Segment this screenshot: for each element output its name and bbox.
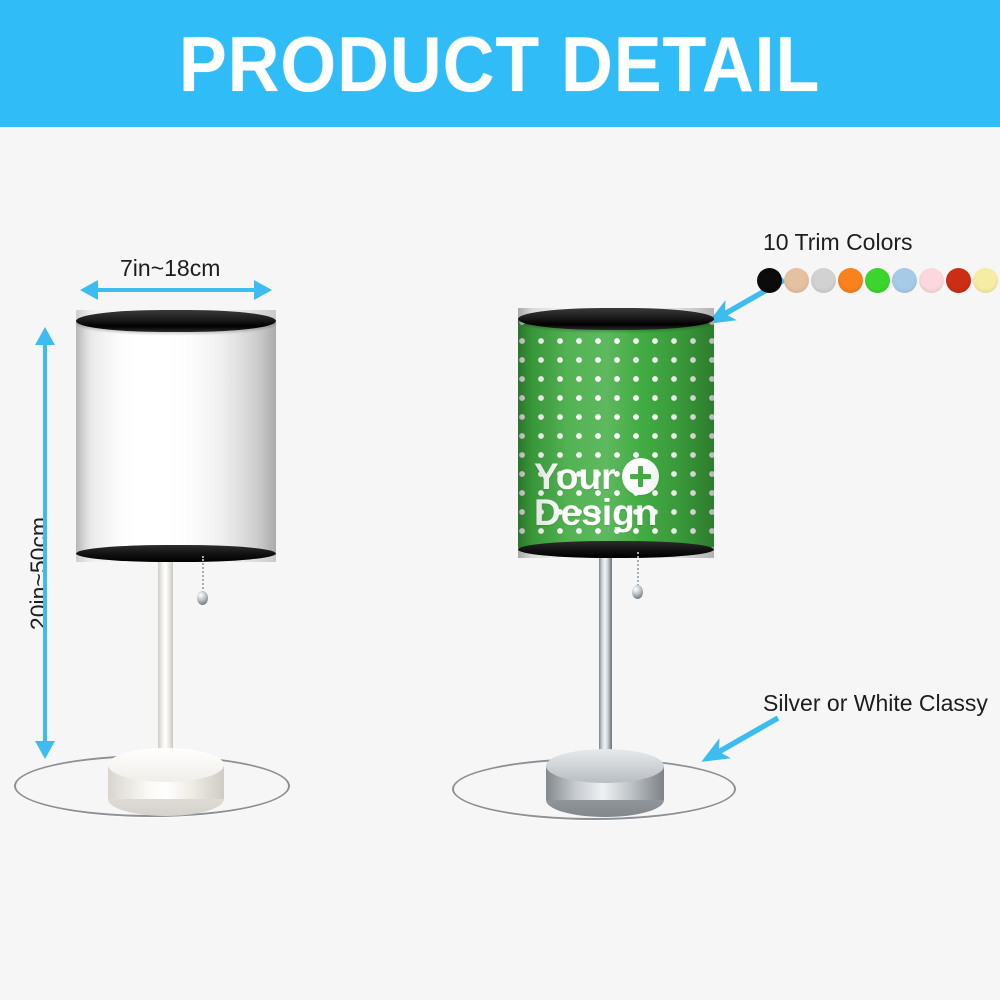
trim-swatch-tan[interactable] <box>784 268 809 293</box>
trim-swatch-light-blue[interactable] <box>892 268 917 293</box>
trim-swatch-light-gray[interactable] <box>811 268 836 293</box>
trim-swatch-dark-red[interactable] <box>946 268 971 293</box>
height-arrow-top-head <box>35 327 55 345</box>
lamp-pole <box>158 556 173 766</box>
shade-surface: Your Design <box>518 318 714 550</box>
height-arrow-bottom-head <box>35 741 55 759</box>
shade-surface <box>76 320 276 554</box>
trim-swatch-pink[interactable] <box>919 268 944 293</box>
design-line-1: Your <box>534 458 659 495</box>
plus-circle-icon <box>622 458 659 495</box>
trim-colors-label: 10 Trim Colors <box>763 229 913 256</box>
shade-bottom-trim <box>518 541 714 558</box>
trim-swatch-orange[interactable] <box>838 268 863 293</box>
pull-chain-ball <box>632 585 643 599</box>
width-arrow-left-head <box>80 280 98 300</box>
trim-swatch-pale-yellow[interactable] <box>973 268 998 293</box>
lamp-shade <box>76 310 276 562</box>
shade-bottom-trim <box>76 545 276 562</box>
shade-top-trim <box>76 310 276 332</box>
base-top <box>546 749 664 783</box>
height-dimension-label: 20in~50cm <box>26 489 53 659</box>
design-text-design: Design <box>534 495 659 531</box>
shade-top-trim <box>518 308 714 330</box>
lamp-pole <box>599 552 612 768</box>
base-finish-label: Silver or White Classy <box>763 690 988 717</box>
custom-design-artwork: Your Design <box>534 458 659 531</box>
height-arrow-line <box>43 343 47 743</box>
base-finish-callout-arrow <box>694 712 784 768</box>
trim-swatch-black[interactable] <box>757 268 782 293</box>
lamp-base <box>108 748 224 816</box>
design-text-your: Your <box>534 459 616 495</box>
base-top <box>108 748 224 782</box>
pull-chain <box>202 556 206 596</box>
trim-color-swatches[interactable] <box>757 268 1000 304</box>
product-detail-image: PRODUCT DETAIL <box>0 0 1000 1000</box>
width-arrow-right-head <box>254 280 272 300</box>
lamp-base <box>546 749 664 817</box>
trim-swatch-green[interactable] <box>865 268 890 293</box>
width-dimension-label: 7in~18cm <box>120 255 220 282</box>
lamp-shade: Your Design <box>518 308 714 558</box>
pull-chain-ball <box>197 591 208 605</box>
width-arrow-line <box>96 288 258 292</box>
